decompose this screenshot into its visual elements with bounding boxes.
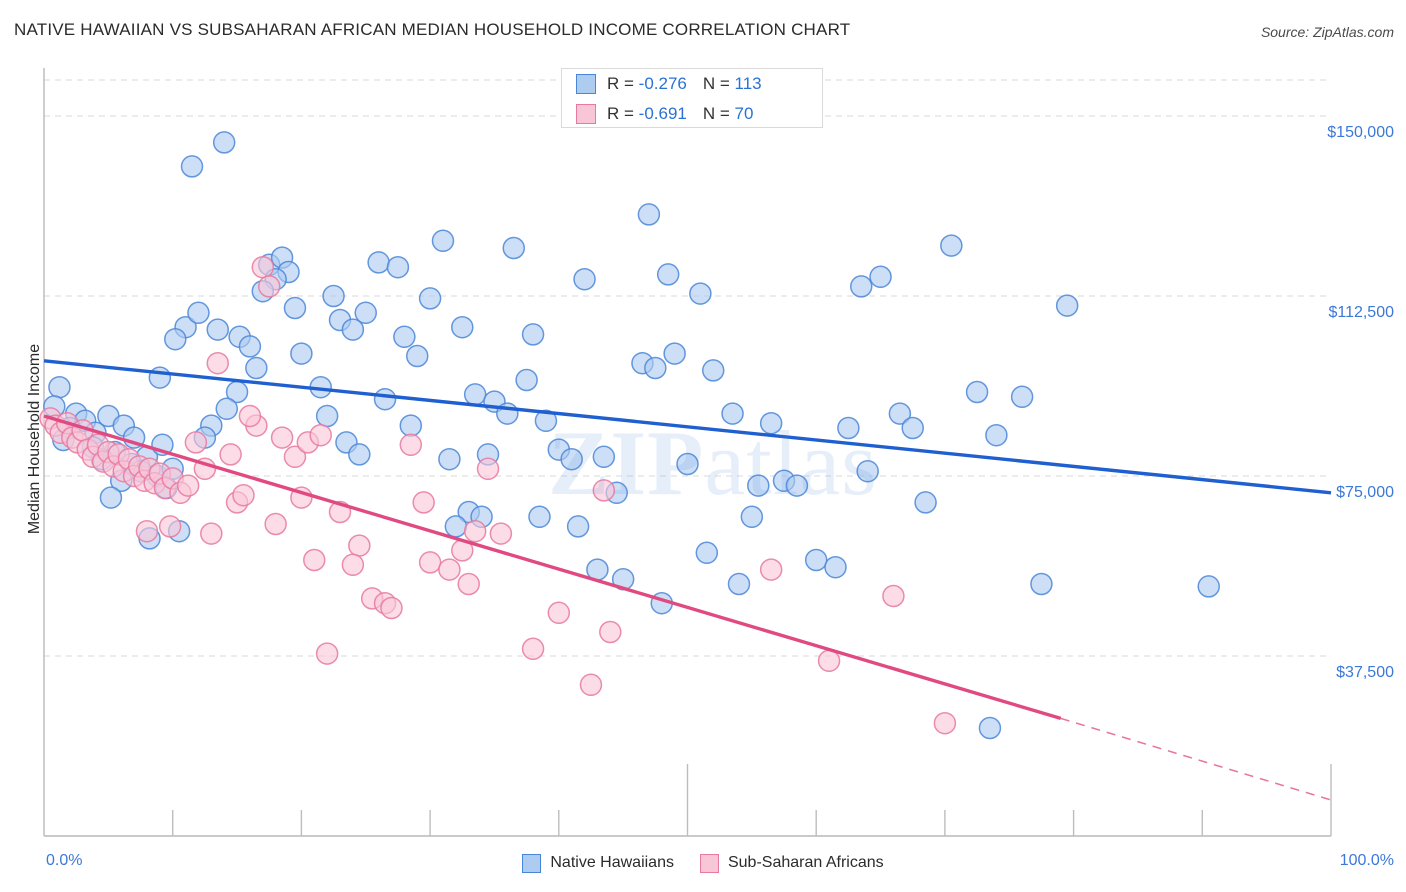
n-value-pink: 70 <box>735 104 754 123</box>
y-tick-label-37500: $37,500 <box>1336 664 1394 682</box>
y-tick-label-112500: $112,500 <box>1328 304 1394 322</box>
legend-swatch-sub-saharan-africans-icon <box>700 854 719 873</box>
chart-root: NATIVE HAWAIIAN VS SUBSAHARAN AFRICAN ME… <box>0 0 1406 892</box>
legend-swatch-blue-icon <box>576 74 596 94</box>
r-label-blue: R = <box>607 74 639 93</box>
stats-text-blue: R = -0.276N = 113 <box>607 74 762 94</box>
y-tick-label-75000: $75,000 <box>1336 484 1394 502</box>
scatter-plot-svg <box>0 0 1406 892</box>
r-value-blue: -0.276 <box>639 74 687 93</box>
legend-item-native-hawaiians[interactable]: Native Hawaiians <box>522 854 674 873</box>
legend-label-sub-saharan-africans: Sub-Saharan Africans <box>728 854 884 872</box>
legend-label-native-hawaiians: Native Hawaiians <box>550 854 674 872</box>
n-label-blue: N = <box>703 74 735 93</box>
stats-text-pink: R = -0.691N = 70 <box>607 104 753 124</box>
n-value-blue: 113 <box>735 74 762 93</box>
legend-swatch-native-hawaiians-icon <box>522 854 541 873</box>
r-label-pink: R = <box>607 104 639 123</box>
stats-row-sub-saharan-africans: R = -0.691N = 70 <box>562 99 822 129</box>
stats-row-native-hawaiians: R = -0.276N = 113 <box>562 69 822 99</box>
legend-item-sub-saharan-africans[interactable]: Sub-Saharan Africans <box>700 854 884 873</box>
correlation-stats-legend: R = -0.276N = 113 R = -0.691N = 70 <box>561 68 823 128</box>
legend-swatch-pink-icon <box>576 104 596 124</box>
r-value-pink: -0.691 <box>639 104 687 123</box>
n-label-pink: N = <box>703 104 735 123</box>
plot-area <box>0 0 1406 892</box>
series-legend: Native Hawaiians Sub-Saharan Africans <box>0 848 1406 878</box>
y-tick-label-150000: $150,000 <box>1327 124 1394 142</box>
